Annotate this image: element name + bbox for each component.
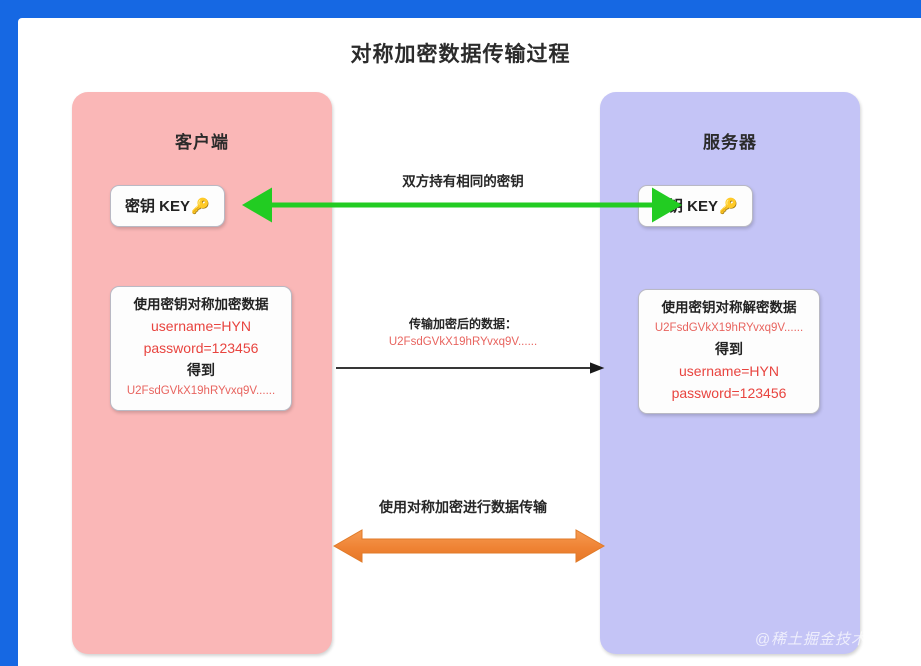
server-decrypt-head: 使用密钥对称解密数据 — [649, 298, 809, 318]
client-encrypt-head: 使用密钥对称加密数据 — [121, 295, 281, 315]
watermark: @稀土掘金技术社区 — [755, 628, 899, 649]
client-plaintext-password: password=123456 — [121, 337, 281, 359]
client-result-label: 得到 — [121, 359, 281, 381]
server-decrypt-card: 使用密钥对称解密数据 U2FsdGVkX19hRYvxq9V...... 得到 … — [638, 289, 820, 414]
diagram-root: 对称加密数据传输过程 客户端 服务器 密钥 KEY🔑 密钥 KEY🔑 使用密钥对… — [0, 0, 921, 666]
encrypted-data-arrow-label: 传输加密后的数据： — [318, 315, 608, 332]
key-exchange-arrow-label: 双方持有相同的密钥 — [318, 170, 608, 190]
key-icon: 🔑 — [191, 198, 210, 215]
server-ciphertext: U2FsdGVkX19hRYvxq9V...... — [649, 318, 809, 338]
key-icon: 🔑 — [719, 198, 738, 215]
server-plaintext-username: username=HYN — [649, 360, 809, 382]
page-title: 对称加密数据传输过程 — [18, 38, 903, 68]
client-ciphertext: U2FsdGVkX19hRYvxq9V...... — [121, 381, 281, 401]
diagram-canvas: 对称加密数据传输过程 客户端 服务器 密钥 KEY🔑 密钥 KEY🔑 使用密钥对… — [18, 18, 921, 666]
client-key-label: 密钥 KEY — [125, 198, 190, 215]
bidirectional-transfer-arrow — [334, 530, 604, 562]
encrypted-data-arrow-ciphertext: U2FsdGVkX19hRYvxq9V...... — [318, 336, 608, 348]
server-key-card: 密钥 KEY🔑 — [638, 185, 753, 227]
panel-server-title: 服务器 — [600, 128, 860, 153]
server-result-label: 得到 — [649, 338, 809, 360]
panel-client-title: 客户端 — [72, 128, 332, 153]
client-encrypt-card: 使用密钥对称加密数据 username=HYN password=123456 … — [110, 286, 292, 411]
client-key-card: 密钥 KEY🔑 — [110, 185, 225, 227]
client-plaintext-username: username=HYN — [121, 315, 281, 337]
server-key-label: 密钥 KEY — [653, 198, 718, 215]
bidirectional-transfer-arrow-label: 使用对称加密进行数据传输 — [308, 497, 618, 517]
server-plaintext-password: password=123456 — [649, 382, 809, 404]
